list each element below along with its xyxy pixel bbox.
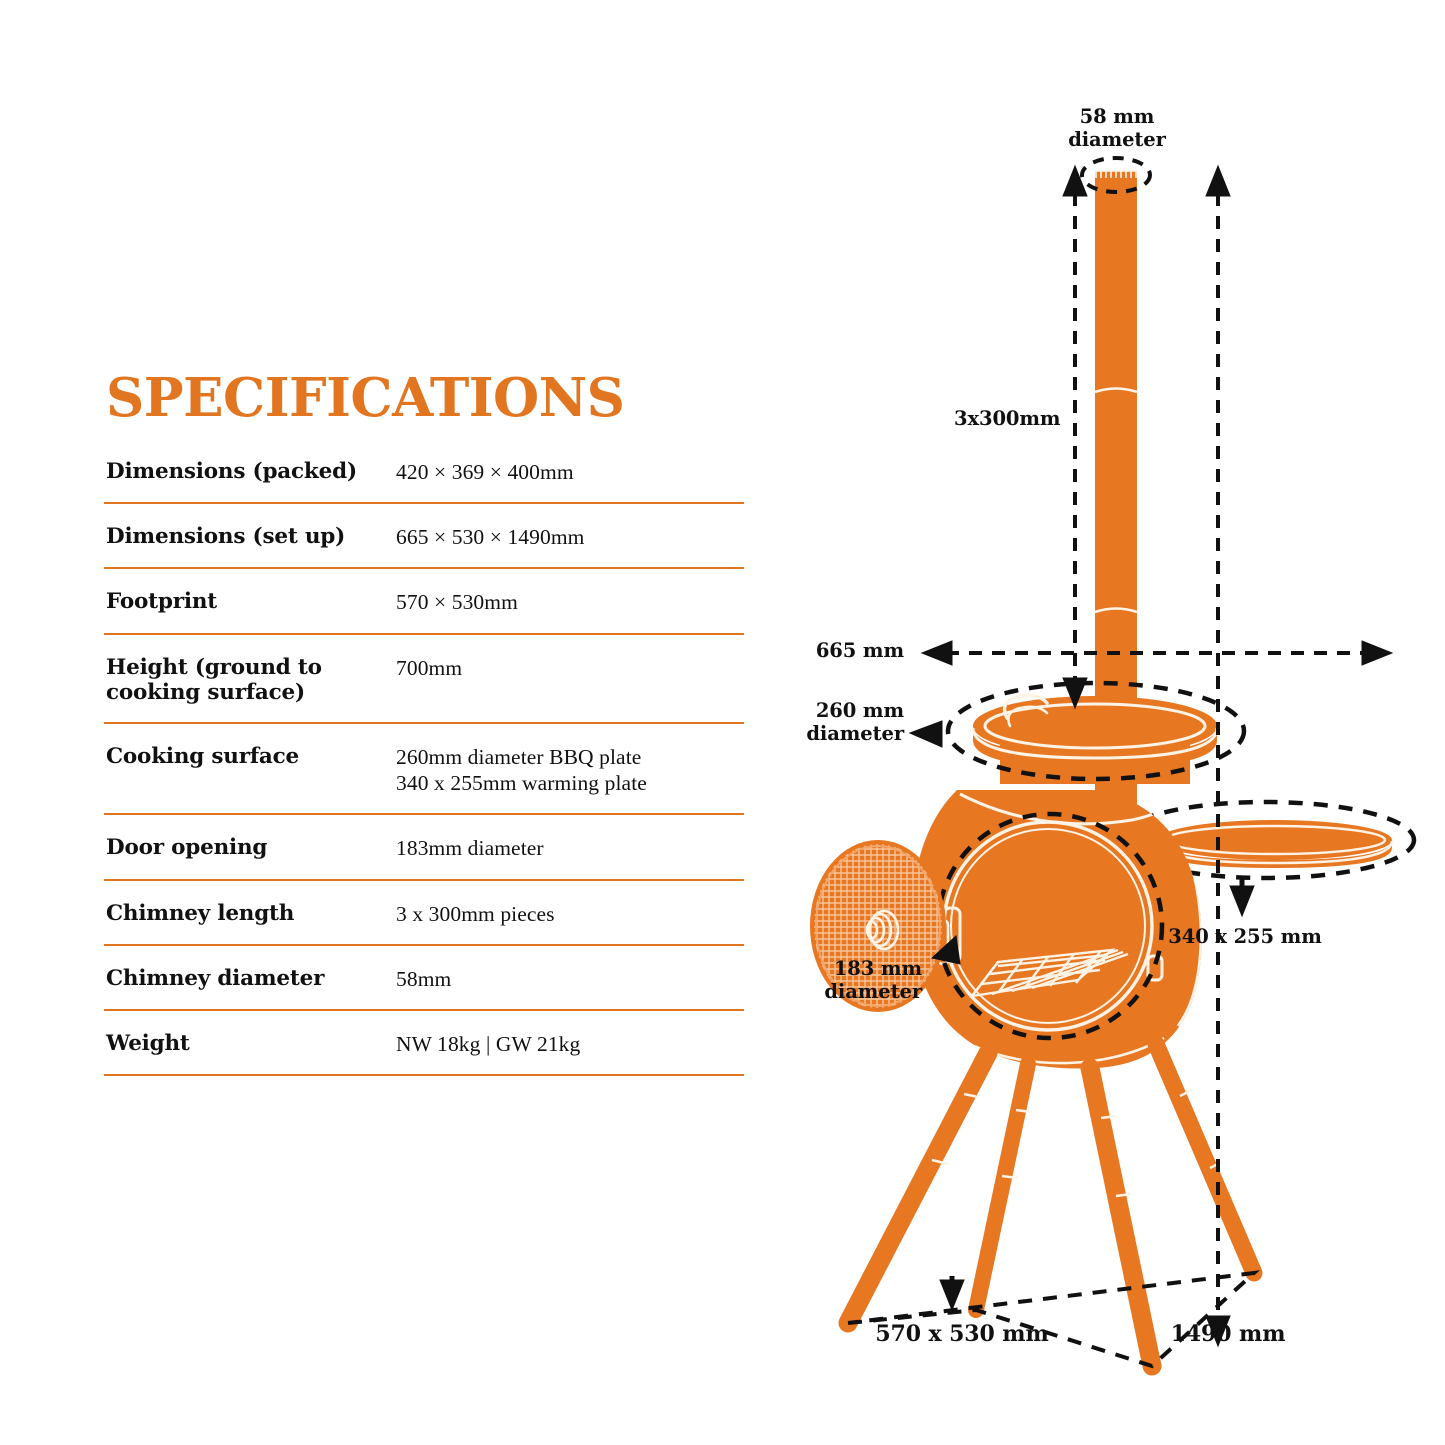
label-footprint: 570 x 530 mm [862, 1322, 1062, 1348]
spec-label: Door opening [104, 835, 396, 860]
spec-row-cooking-surface: Cooking surface 260mm diameter BBQ plate… [104, 724, 744, 815]
spec-value: 420 × 369 × 400mm [396, 459, 744, 485]
spec-value: 700mm [396, 655, 744, 681]
spec-value: 570 × 530mm [396, 589, 744, 615]
spec-label: Weight [104, 1031, 396, 1056]
spec-value: 183mm diameter [396, 835, 744, 861]
specifications-panel: SPECIFICATIONS Dimensions (packed) 420 ×… [104, 372, 744, 1076]
spec-value: 260mm diameter BBQ plate 340 x 255mm war… [396, 744, 744, 796]
spec-value: 58mm [396, 966, 744, 992]
spec-sheet-page: SPECIFICATIONS Dimensions (packed) 420 ×… [0, 0, 1445, 1445]
spec-label: Dimensions (set up) [104, 524, 396, 549]
label-bbq-plate-diameter: 260 mm diameter [760, 700, 904, 745]
label-chimney-diameter: 58 mm diameter [1028, 106, 1206, 151]
label-chimney-length: 3x300mm [954, 408, 1060, 431]
stove-dimension-diagram: 58 mm diameter 3x300mm 665 mm 260 mm dia… [760, 78, 1445, 1378]
spec-row-dimensions-packed: Dimensions (packed) 420 × 369 × 400mm [104, 459, 744, 504]
spec-row-chimney-length: Chimney length 3 x 300mm pieces [104, 881, 744, 946]
spec-value: 3 x 300mm pieces [396, 901, 744, 927]
footprint-outline [848, 1273, 1254, 1366]
spec-label: Chimney length [104, 901, 396, 926]
footprint-leader-arrow [940, 1276, 964, 1310]
spec-value: 665 × 530 × 1490mm [396, 524, 744, 550]
bbq-plate-leader-arrow [910, 721, 942, 747]
spec-row-weight: Weight NW 18kg | GW 21kg [104, 1011, 744, 1076]
chimney-length-dimension [1063, 166, 1087, 708]
label-overall-width: 665 mm [760, 640, 904, 663]
label-warming-plate: 340 x 255 mm [1160, 926, 1330, 949]
label-door-diameter: 183 mm diameter [760, 958, 922, 1003]
page-title: SPECIFICATIONS [106, 372, 744, 425]
spec-value: NW 18kg | GW 21kg [396, 1031, 744, 1057]
spec-row-dimensions-setup: Dimensions (set up) 665 × 530 × 1490mm [104, 504, 744, 569]
spec-label: Chimney diameter [104, 966, 396, 991]
spec-label: Footprint [104, 589, 396, 614]
spec-label: Cooking surface [104, 744, 396, 769]
spec-row-chimney-diameter: Chimney diameter 58mm [104, 946, 744, 1011]
spec-row-footprint: Footprint 570 × 530mm [104, 569, 744, 634]
spec-row-height: Height (ground to cooking surface) 700mm [104, 635, 744, 724]
spec-row-door-opening: Door opening 183mm diameter [104, 815, 744, 880]
warming-plate-leader-arrow [1230, 878, 1254, 916]
label-overall-height: 1490 mm [1148, 1322, 1308, 1348]
spec-label: Dimensions (packed) [104, 459, 396, 484]
overall-width-dimension [922, 641, 1392, 665]
spec-label: Height (ground to cooking surface) [104, 655, 396, 705]
